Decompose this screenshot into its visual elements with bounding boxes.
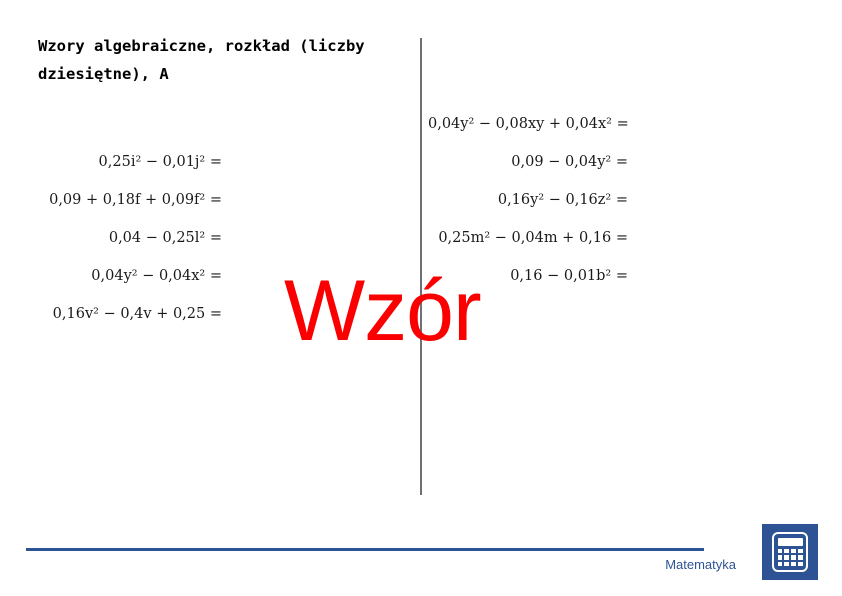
calculator-key — [778, 562, 783, 567]
formula-text: 0,16v² − 0,4v + 0,25 = — [53, 306, 222, 322]
formula-item: 0,25i² − 0,01j² = — [18, 150, 222, 188]
formula-item: 0,25m² − 0,04m + 0,16 = — [428, 226, 628, 264]
calculator-key — [798, 555, 803, 560]
footer-logo — [762, 524, 818, 580]
formula-text: 0,09 − 0,04y² = — [511, 154, 628, 170]
worksheet-page: Wzory algebraiczne, rozkład (liczby dzie… — [0, 0, 842, 596]
footer-subject-label: Matematyka — [600, 557, 736, 572]
formula-text: 0,16y² − 0,16z² = — [498, 192, 628, 208]
calculator-key — [798, 562, 803, 567]
formula-text: 0,04y² − 0,08xy + 0,04x² = — [428, 116, 629, 132]
formula-item: 0,04 − 0,25l² = — [18, 226, 222, 264]
calculator-key — [778, 549, 783, 554]
calculator-key — [791, 555, 796, 560]
calculator-icon — [772, 532, 808, 572]
formula-text: 0,04 − 0,25l² = — [109, 230, 222, 246]
calculator-key — [784, 562, 789, 567]
calculator-keys — [778, 549, 803, 567]
right-formula-column: 0,04y² − 0,08xy + 0,04x² = 0,09 − 0,04y²… — [428, 112, 628, 302]
calculator-key — [784, 555, 789, 560]
formula-text: 0,04y² − 0,04x² = — [91, 268, 222, 284]
calculator-key — [791, 549, 796, 554]
formula-item: 0,09 − 0,04y² = — [428, 150, 628, 188]
formula-item: 0,16 − 0,01b² = — [428, 264, 628, 302]
calculator-key — [791, 562, 796, 567]
formula-item: 0,04y² − 0,08xy + 0,04x² = — [428, 112, 628, 150]
formula-text: 0,25m² − 0,04m + 0,16 = — [438, 230, 628, 246]
formula-item: 0,16v² − 0,4v + 0,25 = — [18, 302, 222, 340]
formula-text: 0,25i² − 0,01j² = — [99, 154, 222, 170]
calculator-key — [778, 555, 783, 560]
column-divider — [420, 38, 422, 495]
footer-divider — [26, 548, 704, 551]
calculator-key — [784, 549, 789, 554]
page-title: Wzory algebraiczne, rozkład (liczby dzie… — [38, 32, 413, 88]
formula-text: 0,16 − 0,01b² = — [510, 268, 628, 284]
formula-text: 0,09 + 0,18f + 0,09f² = — [49, 192, 222, 208]
formula-item: 0,09 + 0,18f + 0,09f² = — [18, 188, 222, 226]
calculator-screen — [778, 538, 803, 546]
calculator-key — [798, 549, 803, 554]
formula-item: 0,04y² − 0,04x² = — [18, 264, 222, 302]
left-formula-column: 0,25i² − 0,01j² = 0,09 + 0,18f + 0,09f² … — [18, 150, 222, 340]
formula-item: 0,16y² − 0,16z² = — [428, 188, 628, 226]
